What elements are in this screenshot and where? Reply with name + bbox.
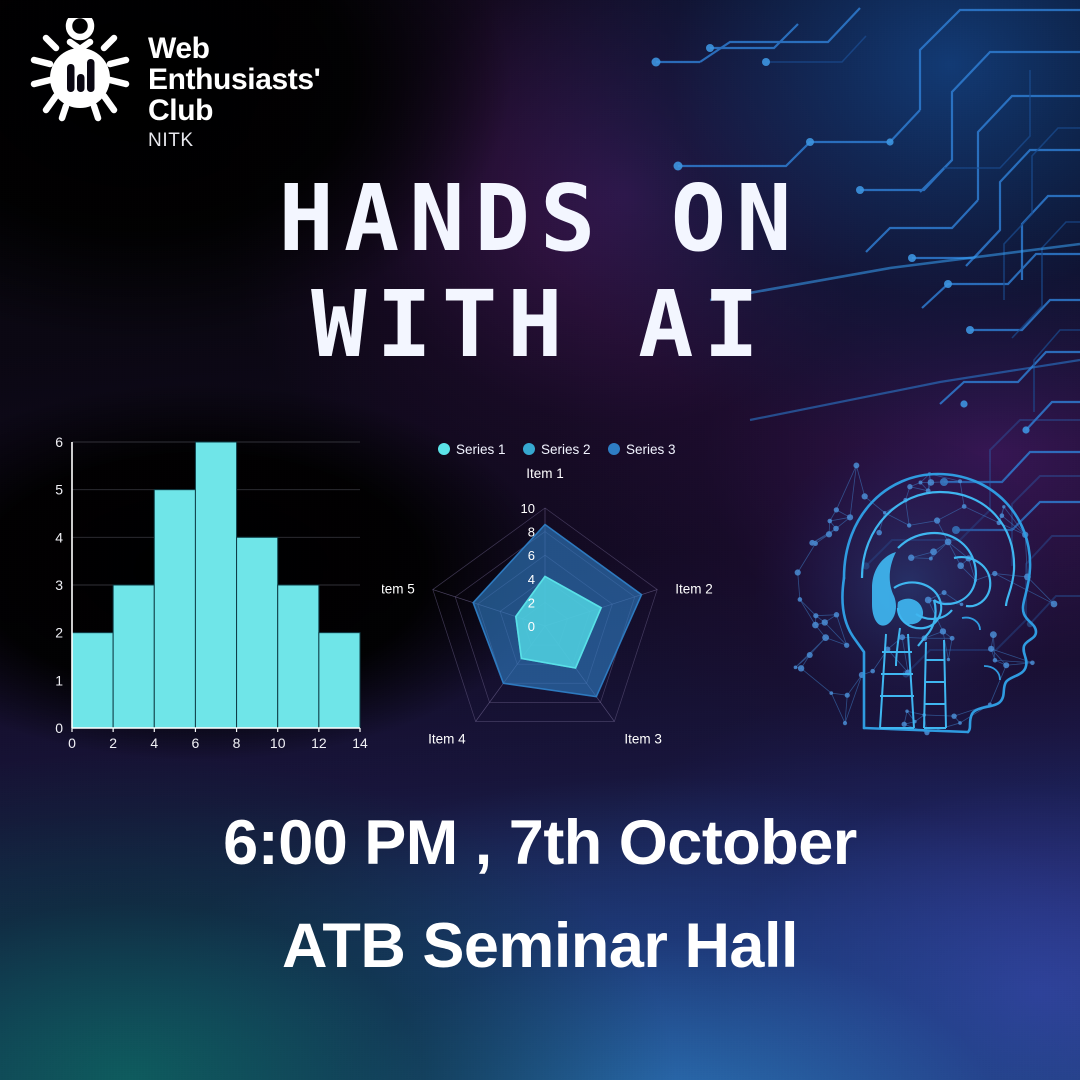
bar-6-8[interactable] [195, 442, 236, 728]
svg-text:0: 0 [55, 720, 63, 736]
svg-text:2: 2 [528, 595, 535, 610]
svg-text:8: 8 [233, 735, 241, 751]
legend-label-3[interactable]: Series 3 [626, 442, 676, 457]
logo-subtitle: NITK [148, 130, 320, 152]
legend-label-1[interactable]: Series 1 [456, 442, 506, 457]
event-time-date: 6:00 PM , 7th October [0, 812, 1080, 875]
radar-chart-series-polygons[interactable] [473, 525, 641, 697]
bar-12-14[interactable] [319, 633, 360, 728]
bug-chart-logo-icon [26, 18, 134, 126]
bar-chart-x-axis-labels: 02468101214 [68, 728, 368, 751]
logo-line-1: Web [148, 34, 320, 65]
logo-line-2: Enthusiasts' [148, 65, 320, 96]
bar-chart-y-axis-labels: 0123456 [55, 434, 63, 736]
legend-swatch-1[interactable] [438, 443, 450, 455]
svg-text:10: 10 [521, 501, 535, 516]
svg-text:12: 12 [311, 735, 327, 751]
title-line-1: HANDS ON [278, 172, 801, 272]
title-line-2: WITH AI [311, 271, 769, 372]
svg-text:6: 6 [55, 434, 63, 450]
radar-category-1: Item 1 [526, 466, 564, 481]
svg-text:10: 10 [270, 735, 286, 751]
svg-text:2: 2 [109, 735, 117, 751]
poster-canvas: Web Enthusiasts' Club NITK .tt { font-fa… [0, 0, 1080, 1080]
svg-text:5: 5 [55, 482, 63, 498]
legend-swatch-2[interactable] [523, 443, 535, 455]
bar-8-10[interactable] [237, 537, 278, 728]
svg-text:4: 4 [150, 735, 158, 751]
charts-row: 0123456 02468101214 Series 1Series 2Seri… [0, 420, 1080, 770]
svg-text:2: 2 [55, 625, 63, 641]
svg-text:14: 14 [352, 735, 368, 751]
radar-category-4: Item 4 [428, 731, 466, 746]
bar-10-12[interactable] [278, 585, 319, 728]
event-venue: ATB Seminar Hall [0, 915, 1080, 978]
bar-0-2[interactable] [72, 633, 113, 728]
bar-4-6[interactable] [154, 490, 195, 728]
svg-text:8: 8 [528, 525, 535, 540]
page-title: .tt { font-family:"DejaVu Sans Mono", mo… [0, 172, 1080, 372]
radar-chart-legend[interactable]: Series 1Series 2Series 3 [438, 442, 676, 457]
title-techno-text: .tt { font-family:"DejaVu Sans Mono", mo… [40, 172, 1040, 372]
club-logo: Web Enthusiasts' Club NITK [26, 18, 320, 152]
svg-text:0: 0 [68, 735, 76, 751]
bar-chart-bars[interactable] [72, 442, 360, 728]
svg-text:4: 4 [528, 572, 535, 587]
svg-text:3: 3 [55, 577, 63, 593]
svg-text:1: 1 [55, 672, 63, 688]
bar-2-4[interactable] [113, 585, 154, 728]
event-details: 6:00 PM , 7th October ATB Seminar Hall [0, 812, 1080, 978]
svg-text:4: 4 [55, 529, 63, 545]
bar-chart[interactable]: 0123456 02468101214 [40, 430, 380, 760]
svg-text:6: 6 [528, 548, 535, 563]
svg-text:0: 0 [528, 619, 535, 634]
radar-category-5: Item 5 [382, 582, 415, 597]
logo-line-3: Club [148, 96, 320, 127]
radar-chart[interactable]: Series 1Series 2Series 3 0246810 Item 1I… [382, 430, 722, 760]
legend-swatch-3[interactable] [608, 443, 620, 455]
radar-category-3: Item 3 [624, 731, 662, 746]
radar-category-2: Item 2 [675, 582, 713, 597]
ai-brain-network-icon [748, 428, 1068, 758]
legend-label-2[interactable]: Series 2 [541, 442, 591, 457]
logo-wordmark: Web Enthusiasts' Club NITK [148, 18, 320, 152]
svg-text:6: 6 [192, 735, 200, 751]
